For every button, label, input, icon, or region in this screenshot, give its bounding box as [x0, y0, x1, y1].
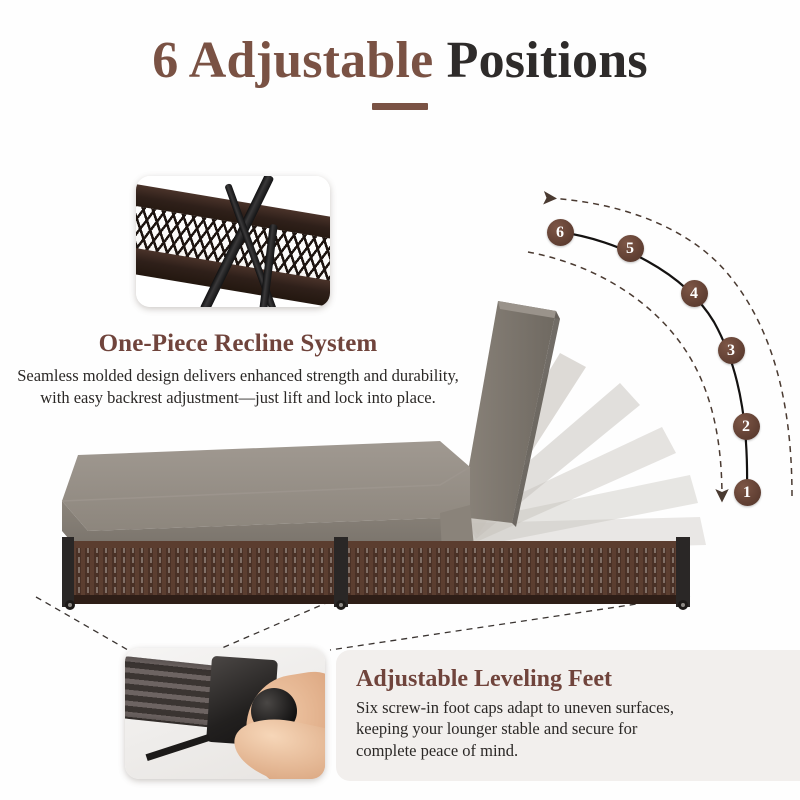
position-badge-3[interactable]: 3: [718, 337, 745, 364]
frame-post-right: [676, 537, 690, 607]
title-divider: [372, 103, 428, 110]
position-badge-4[interactable]: 4: [681, 280, 708, 307]
position-badge-5[interactable]: 5: [617, 235, 644, 262]
title-dark-text: Positions: [447, 32, 648, 89]
feature-block-leveling-feet: Adjustable Leveling Feet Six screw-in fo…: [356, 666, 686, 761]
position-badge-2[interactable]: 2: [733, 413, 760, 440]
title-accent-text: 6 Adjustable: [152, 32, 433, 89]
position-badge-6[interactable]: 6: [547, 219, 574, 246]
arc-paths: [500, 180, 800, 530]
feature-title-leveling-feet: Adjustable Leveling Feet: [356, 666, 686, 693]
position-arc: 123456: [500, 180, 800, 530]
frame-post-mid: [334, 537, 348, 607]
feature-body-leveling-feet: Six screw-in foot caps adapt to uneven s…: [356, 697, 686, 761]
rattan-base: [62, 537, 690, 607]
arc-dashed-arrow-outer: [548, 198, 792, 496]
page-title: 6 Adjustable Positions: [0, 34, 800, 110]
frame-rod: [146, 734, 211, 761]
foot-cap-photo: [125, 648, 325, 779]
position-badge-1[interactable]: 1: [734, 479, 761, 506]
frame-post-left: [62, 537, 74, 607]
leveling-feet-closeup-inset: [125, 648, 325, 779]
infographic-page: 6 Adjustable Positions One-Piece Recline…: [0, 0, 800, 800]
